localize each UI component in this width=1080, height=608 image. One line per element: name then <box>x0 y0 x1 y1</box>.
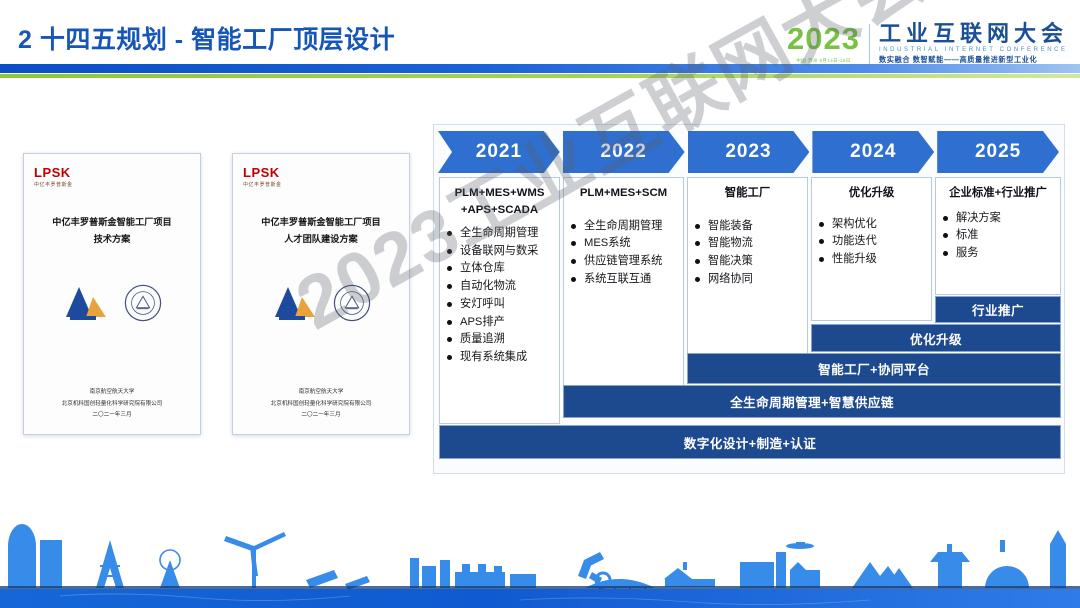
column-item-list: 全生命周期管理 设备联网与数采 立体仓库 自动化物流 安灯呼叫 APS排产 质量… <box>445 225 554 367</box>
column-heading-line: 企业标准+行业推广 <box>941 185 1055 202</box>
column-item-list: 智能装备 智能物流 智能决策 网络协同 <box>693 218 802 289</box>
document-thumbnail-technical-plan[interactable]: LPSK 中亿丰罗普斯金 中亿丰罗普斯金智能工厂项目 技术方案 南京航空航天大学… <box>23 153 201 435</box>
list-item: 服务 <box>941 245 1055 263</box>
list-item: 网络协同 <box>693 271 802 289</box>
document-title-line: 技术方案 <box>34 231 190 248</box>
header-band-green <box>0 74 1080 78</box>
roadmap-column-2024: 优化升级 架构优化 功能迭代 性能升级 <box>811 177 932 321</box>
document-title-line: 中亿丰罗普斯金智能工厂项目 <box>243 214 399 231</box>
list-item: 智能决策 <box>693 253 802 271</box>
document-title: 中亿丰罗普斯金智能工厂项目 技术方案 <box>34 214 190 249</box>
list-item: 设备联网与数采 <box>445 243 554 261</box>
brand-subtitle: 中亿丰罗普斯金 <box>34 181 73 188</box>
column-heading: PLM+MES+SCM <box>569 185 678 202</box>
column-item-list: 全生命周期管理 MES系统 供应链管理系统 系统互联互通 <box>569 218 678 289</box>
list-item: MES系统 <box>569 235 678 253</box>
logo-name-cn: 工业互联网大会 <box>879 22 1068 45</box>
page-title: 2 十四五规划 - 智能工厂顶层设计 <box>18 20 395 56</box>
year-timeline: 2021 2022 2023 2024 2025 <box>438 131 1062 173</box>
logo-year: 2023 <box>787 23 860 54</box>
stair-bar-lifecycle-supply-chain: 全生命周期管理+智慧供应链 <box>563 385 1061 418</box>
document-footer-line: 北京机科国创轻量化科学研究院有限公司 <box>243 399 399 411</box>
list-item: 供应链管理系统 <box>569 253 678 271</box>
column-heading: 智能工厂 <box>693 185 802 202</box>
list-item: 解决方案 <box>941 210 1055 228</box>
column-item-list: 解决方案 标准 服务 <box>941 210 1055 263</box>
column-heading-line: PLM+MES+WMS <box>445 185 554 202</box>
column-heading: PLM+MES+WMS +APS+SCADA <box>445 185 554 218</box>
brand-subtitle: 中亿丰罗普斯金 <box>243 181 282 188</box>
year-chevron-2025[interactable]: 2025 <box>937 131 1059 173</box>
column-heading: 优化升级 <box>817 185 926 202</box>
slide-root: 2 十四五规划 - 智能工厂顶层设计 2023 中国·苏州 8月14日-16日 … <box>0 0 1080 608</box>
conference-logo: 2023 中国·苏州 8月14日-16日 工业互联网大会 INDUSTRIAL … <box>787 22 1068 65</box>
list-item: 架构优化 <box>817 216 926 234</box>
logo-year-subtitle: 中国·苏州 8月14日-16日 <box>787 58 860 64</box>
stair-bar-optimization-upgrade: 优化升级 <box>811 324 1061 352</box>
university-seal-icon <box>333 284 371 322</box>
document-thumbnail-talent-team-plan[interactable]: LPSK 中亿丰罗普斯金 中亿丰罗普斯金智能工厂项目 人才团队建设方案 南京航空… <box>232 153 410 435</box>
list-item: 系统互联互通 <box>569 271 678 289</box>
list-item: 立体仓库 <box>445 260 554 278</box>
column-heading-line: +APS+SCADA <box>445 202 554 219</box>
document-title: 中亿丰罗普斯金智能工厂项目 人才团队建设方案 <box>243 214 399 249</box>
document-footer-line: 二〇二一年三月 <box>34 410 190 422</box>
column-item-list: 架构优化 功能迭代 性能升级 <box>817 216 926 269</box>
column-heading: 企业标准+行业推广 <box>941 185 1055 202</box>
list-item: 全生命周期管理 <box>569 218 678 236</box>
year-chevron-2021[interactable]: 2021 <box>438 131 560 173</box>
mountain-logo-icon <box>62 283 110 323</box>
list-item: 全生命周期管理 <box>445 225 554 243</box>
document-footer-line: 南京航空航天大学 <box>243 387 399 399</box>
column-heading-line: 优化升级 <box>817 185 926 202</box>
header-band-blue <box>0 64 1080 73</box>
list-item: 功能迭代 <box>817 233 926 251</box>
header-divider-band <box>0 64 1080 78</box>
list-item: 安灯呼叫 <box>445 296 554 314</box>
list-item: 性能升级 <box>817 251 926 269</box>
document-brand: LPSK 中亿丰罗普斯金 <box>243 166 399 188</box>
brand-logo-text: LPSK <box>34 166 71 179</box>
document-title-line: 人才团队建设方案 <box>243 231 399 248</box>
year-chevron-2023[interactable]: 2023 <box>688 131 810 173</box>
document-footer: 南京航空航天大学 北京机科国创轻量化科学研究院有限公司 二〇二一年三月 <box>34 387 190 426</box>
roadmap-panel: 2021 2022 2023 2024 2025 PLM+MES+WMS +AP… <box>433 124 1065 474</box>
list-item: 标准 <box>941 227 1055 245</box>
document-footer: 南京航空航天大学 北京机科国创轻量化科学研究院有限公司 二〇二一年三月 <box>243 387 399 426</box>
brand-logo-text: LPSK <box>243 166 280 179</box>
roadmap-column-2025: 企业标准+行业推广 解决方案 标准 服务 <box>935 177 1061 295</box>
list-item: 自动化物流 <box>445 278 554 296</box>
horizon-line <box>0 586 1080 589</box>
skyline-silhouette-group <box>8 524 1066 590</box>
list-item: 质量追溯 <box>445 331 554 349</box>
footer-skyline-illustration <box>0 500 1080 608</box>
document-emblems <box>34 283 190 323</box>
document-brand: LPSK 中亿丰罗普斯金 <box>34 166 190 188</box>
year-chevron-2024[interactable]: 2024 <box>812 131 934 173</box>
list-item: 现有系统集成 <box>445 349 554 367</box>
document-title-line: 中亿丰罗普斯金智能工厂项目 <box>34 214 190 231</box>
list-item: 智能装备 <box>693 218 802 236</box>
stair-bar-digital-design-manufacturing: 数字化设计+制造+认证 <box>439 425 1061 459</box>
logo-slogan: 数实融合 数智赋能——高质量推进新型工业化 <box>879 55 1068 65</box>
document-emblems <box>243 283 399 323</box>
list-item: 智能物流 <box>693 235 802 253</box>
roadmap-column-2023: 智能工厂 智能装备 智能物流 智能决策 网络协同 <box>687 177 808 375</box>
document-footer-line: 二〇二一年三月 <box>243 410 399 422</box>
sea-band <box>0 589 1080 608</box>
mountain-logo-icon <box>271 283 319 323</box>
logo-year-block: 2023 中国·苏州 8月14日-16日 <box>787 23 860 64</box>
logo-text-block: 工业互联网大会 INDUSTRIAL INTERNET CONFERENCE 数… <box>879 22 1068 65</box>
stair-bar-industry-promotion: 行业推广 <box>935 296 1061 323</box>
logo-name-en: INDUSTRIAL INTERNET CONFERENCE <box>879 47 1068 53</box>
university-seal-icon <box>124 284 162 322</box>
roadmap-column-2021: PLM+MES+WMS +APS+SCADA 全生命周期管理 设备联网与数采 立… <box>439 177 560 424</box>
list-item: APS排产 <box>445 314 554 332</box>
document-footer-line: 南京航空航天大学 <box>34 387 190 399</box>
column-heading-line: PLM+MES+SCM <box>569 185 678 202</box>
logo-divider <box>869 24 870 64</box>
year-chevron-2022[interactable]: 2022 <box>563 131 685 173</box>
column-heading-line: 智能工厂 <box>693 185 802 202</box>
roadmap-column-2022: PLM+MES+SCM 全生命周期管理 MES系统 供应链管理系统 系统互联互通 <box>563 177 684 402</box>
stair-bar-smart-factory-platform: 智能工厂+协同平台 <box>687 353 1061 384</box>
document-footer-line: 北京机科国创轻量化科学研究院有限公司 <box>34 399 190 411</box>
